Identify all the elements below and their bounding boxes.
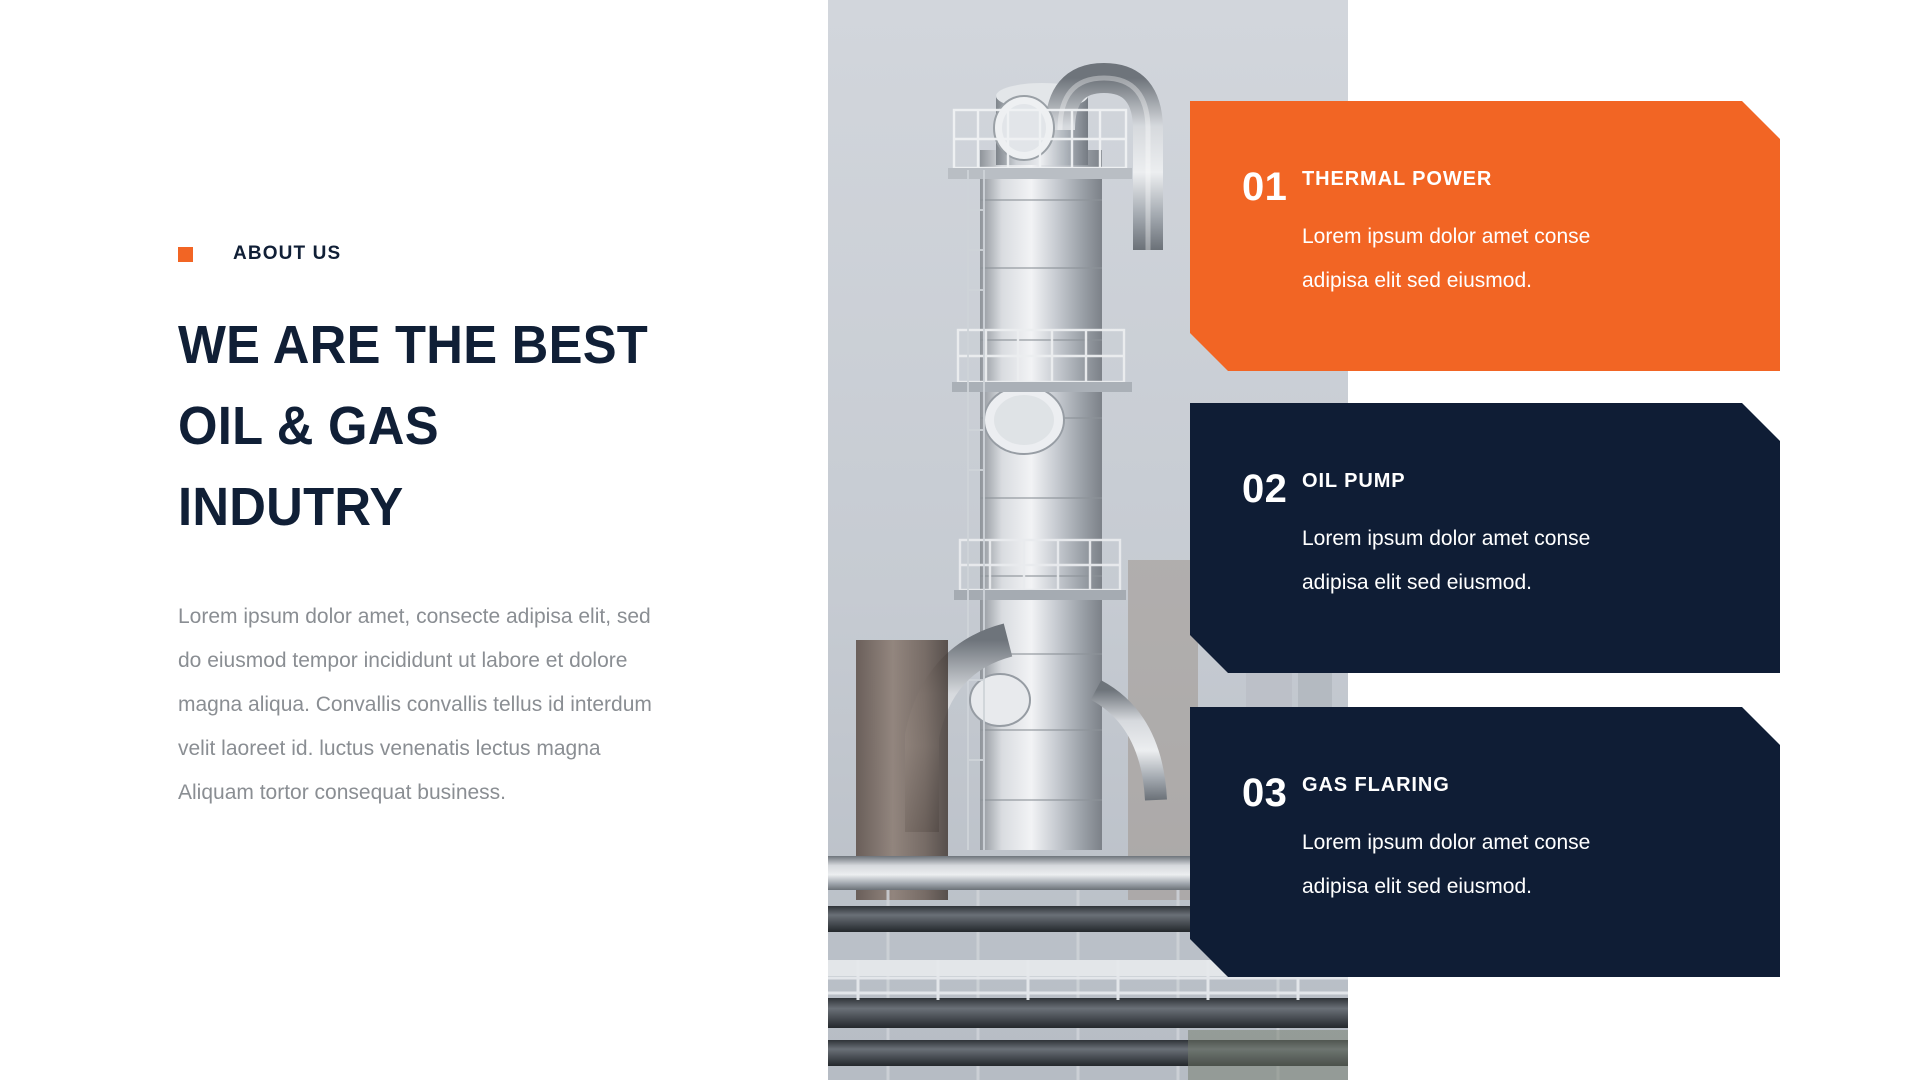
feature-card-description: Lorem ipsum dolor amet conse adipisa eli… xyxy=(1302,821,1662,909)
feature-card-oil-pump[interactable]: 02 OIL PUMP Lorem ipsum dolor amet conse… xyxy=(1190,403,1780,673)
feature-card-body: OIL PUMP Lorem ipsum dolor amet conse ad… xyxy=(1302,403,1780,605)
feature-card-body: GAS FLARING Lorem ipsum dolor amet conse… xyxy=(1302,707,1780,909)
feature-card-description: Lorem ipsum dolor amet conse adipisa eli… xyxy=(1302,215,1662,303)
section-eyebrow: ABOUT US xyxy=(178,243,341,265)
feature-card-title: THERMAL POWER xyxy=(1302,101,1740,189)
feature-card-thermal-power[interactable]: 01 THERMAL POWER Lorem ipsum dolor amet … xyxy=(1190,101,1780,371)
feature-card-number: 03 xyxy=(1190,707,1302,813)
feature-card-gas-flaring[interactable]: 03 GAS FLARING Lorem ipsum dolor amet co… xyxy=(1190,707,1780,977)
about-description: Lorem ipsum dolor amet, consecte adipisa… xyxy=(178,595,678,815)
feature-card-stack: 01 THERMAL POWER Lorem ipsum dolor amet … xyxy=(1190,0,1820,1080)
section-eyebrow-label: ABOUT US xyxy=(233,243,341,265)
page-title: WE ARE THE BEST OIL & GAS INDUTRY xyxy=(178,305,667,548)
feature-card-title: GAS FLARING xyxy=(1302,707,1740,795)
feature-card-title: OIL PUMP xyxy=(1302,403,1740,491)
about-text-column: ABOUT US WE ARE THE BEST OIL & GAS INDUT… xyxy=(178,0,698,1080)
feature-card-number: 02 xyxy=(1190,403,1302,509)
feature-card-number: 01 xyxy=(1190,101,1302,207)
feature-card-body: THERMAL POWER Lorem ipsum dolor amet con… xyxy=(1302,101,1780,303)
orange-square-bullet-icon xyxy=(178,247,193,262)
feature-card-description: Lorem ipsum dolor amet conse adipisa eli… xyxy=(1302,517,1662,605)
